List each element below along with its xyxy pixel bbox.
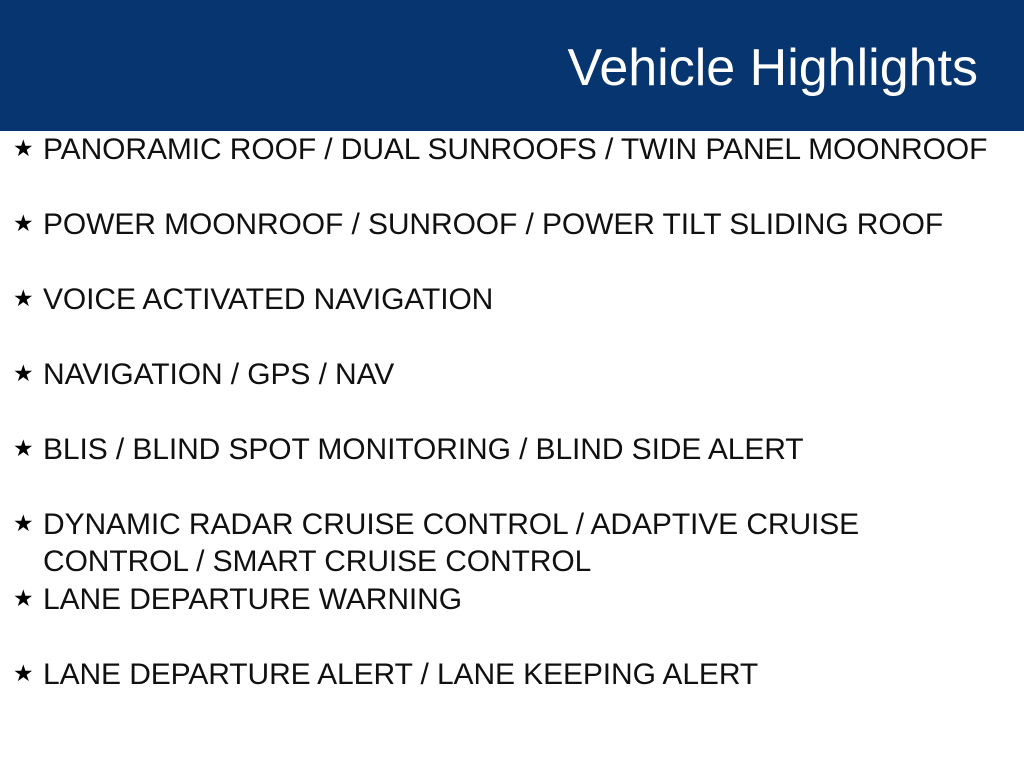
star-bullet-icon: ★ [13,206,43,243]
star-bullet-icon: ★ [13,356,43,393]
list-item: ★ LANE DEPARTURE ALERT / LANE KEEPING AL… [0,656,1024,731]
page-title: Vehicle Highlights [568,42,978,94]
vehicle-highlights-list: ★ PANORAMIC ROOF / DUAL SUNROOFS / TWIN … [0,131,1024,731]
star-bullet-icon: ★ [13,506,43,543]
list-item: ★ DYNAMIC RADAR CRUISE CONTROL / ADAPTIV… [0,506,1024,581]
star-bullet-icon: ★ [13,281,43,318]
list-item-label: LANE DEPARTURE ALERT / LANE KEEPING ALER… [43,656,1024,693]
list-item: ★ LANE DEPARTURE WARNING [0,581,1024,656]
list-item-label: BLIS / BLIND SPOT MONITORING / BLIND SID… [43,431,1024,468]
list-item-label: VOICE ACTIVATED NAVIGATION [43,281,1024,318]
header-band: Vehicle Highlights [0,0,1024,131]
list-item-label: LANE DEPARTURE WARNING [43,581,1024,618]
list-item: ★ PANORAMIC ROOF / DUAL SUNROOFS / TWIN … [0,131,1024,206]
star-bullet-icon: ★ [13,581,43,618]
star-bullet-icon: ★ [13,656,43,693]
star-bullet-icon: ★ [13,131,43,168]
star-bullet-icon: ★ [13,431,43,468]
list-item: ★ BLIS / BLIND SPOT MONITORING / BLIND S… [0,431,1024,506]
list-item-label: NAVIGATION / GPS / NAV [43,356,1024,393]
list-item: ★ POWER MOONROOF / SUNROOF / POWER TILT … [0,206,1024,281]
list-item-label: PANORAMIC ROOF / DUAL SUNROOFS / TWIN PA… [43,131,1024,168]
list-item-label: DYNAMIC RADAR CRUISE CONTROL / ADAPTIVE … [43,506,1024,580]
vehicle-highlights-slide: Vehicle Highlights ★ PANORAMIC ROOF / DU… [0,0,1024,768]
list-item-label: POWER MOONROOF / SUNROOF / POWER TILT SL… [43,206,1024,243]
list-item: ★ NAVIGATION / GPS / NAV [0,356,1024,431]
list-item: ★ VOICE ACTIVATED NAVIGATION [0,281,1024,356]
